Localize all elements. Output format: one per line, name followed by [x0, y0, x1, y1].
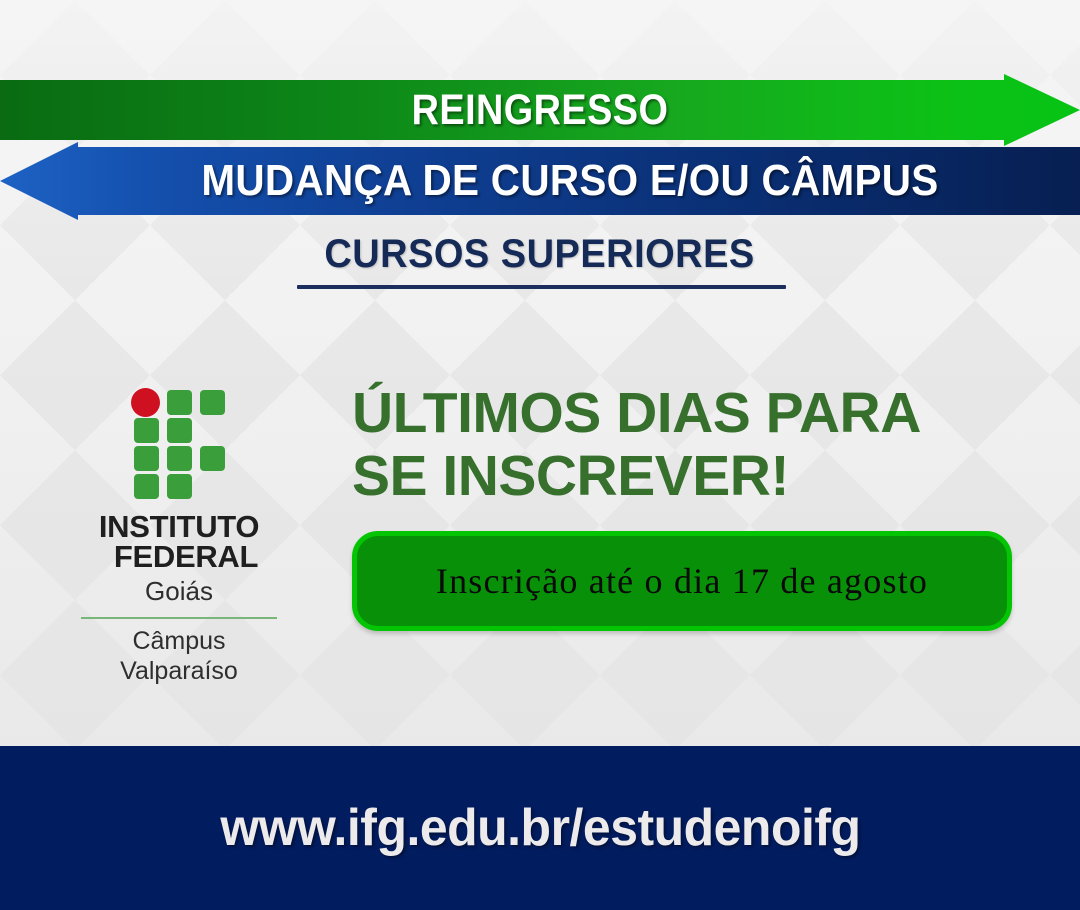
ifg-logo-mark	[130, 388, 228, 498]
logo-cell-r3c1	[167, 474, 192, 499]
logo-cell-r3c0	[134, 474, 159, 499]
logo-state-label: Goiás	[53, 572, 305, 608]
logo-cell-r2c2	[200, 446, 225, 471]
inscription-deadline-button[interactable]: Inscrição até o dia 17 de agosto	[352, 531, 1012, 631]
subtitle-text: CURSOS SUPERIORES	[325, 232, 755, 277]
blue-arrow-label: MUDANÇA DE CURSO E/OU CÂMPUS	[110, 142, 1030, 220]
footer-bar: www.ifg.edu.br/estudenoifg	[0, 746, 1080, 910]
subtitle-underline	[297, 285, 786, 289]
logo-red-circle-icon	[131, 388, 160, 417]
ifg-logo-block: INSTITUTO FEDERAL Goiás Câmpus Valparaís…	[53, 388, 305, 686]
logo-cell-r0c2	[200, 390, 225, 415]
logo-institution-line1: INSTITUTO	[53, 512, 305, 542]
logo-cell-r2c1	[167, 446, 192, 471]
subtitle-container: CURSOS SUPERIORES	[0, 232, 1080, 277]
headline-line2: SE INSCREVER!	[352, 445, 1052, 508]
logo-cell-r1c0	[134, 418, 159, 443]
logo-cell-r0c1	[167, 390, 192, 415]
footer-website-url[interactable]: www.ifg.edu.br/estudenoifg	[220, 798, 860, 858]
logo-institution-line2: FEDERAL	[53, 542, 305, 572]
logo-campus-line1: Câmpus	[53, 627, 305, 657]
promotional-banner: REINGRESSO MUDANÇA DE CURSO E/OU CÂMPUS …	[0, 0, 1080, 910]
headline: ÚLTIMOS DIAS PARA SE INSCREVER!	[352, 382, 1052, 507]
logo-divider	[81, 617, 277, 619]
headline-line1: ÚLTIMOS DIAS PARA	[352, 381, 921, 445]
green-arrow-label: REINGRESSO	[65, 74, 1015, 146]
inscription-deadline-label: Inscrição até o dia 17 de agosto	[436, 560, 928, 602]
logo-cell-r1c1	[167, 418, 192, 443]
logo-campus-line2: Valparaíso	[53, 657, 305, 687]
logo-cell-r2c0	[134, 446, 159, 471]
